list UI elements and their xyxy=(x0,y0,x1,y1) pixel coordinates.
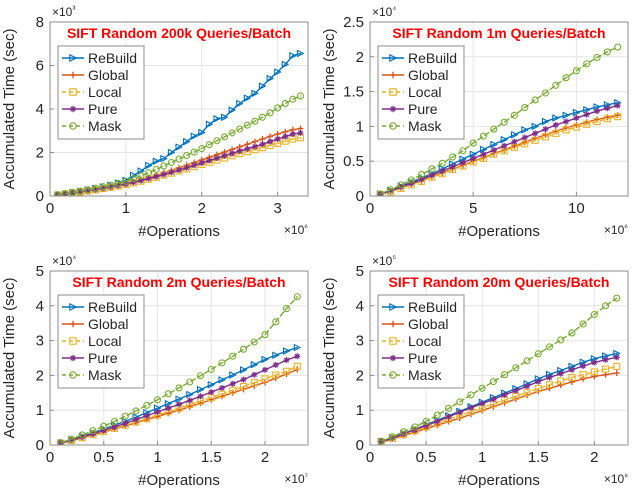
data-point-marker xyxy=(237,148,243,154)
y-tick-label: 2 xyxy=(36,145,44,162)
y-tick-label: 3 xyxy=(356,333,364,350)
legend[interactable]: ReBuildGlobalLocalPureMask xyxy=(58,46,144,139)
x-tick-label: 2 xyxy=(590,449,598,466)
y-tick-label: 4 xyxy=(36,298,44,315)
data-point-marker xyxy=(580,363,586,369)
data-point-marker xyxy=(144,413,150,419)
data-point-marker xyxy=(604,105,610,111)
data-point-marker xyxy=(511,139,517,145)
data-point-marker xyxy=(282,101,288,107)
subplot-sift-random-200k: 012302468×10³×10⁶#OperationsAccumulated … xyxy=(0,0,320,249)
legend-label: Mask xyxy=(408,367,442,383)
subplot-title: SIFT Random 1m Queries/Batch xyxy=(392,25,605,41)
chart-sift-random-200k: 012302468×10³×10⁶#OperationsAccumulated … xyxy=(0,0,320,249)
data-point-marker xyxy=(524,358,530,364)
data-point-marker xyxy=(206,158,212,164)
data-point-marker xyxy=(70,355,76,361)
data-point-marker xyxy=(176,167,182,173)
data-point-marker xyxy=(259,141,265,147)
data-point-marker xyxy=(290,131,296,137)
x-tick-label: 3 xyxy=(273,200,281,217)
data-point-marker xyxy=(390,106,396,112)
chart-sift-random-20m: 00.511.52012345×10⁵×10⁸#OperationsAccumu… xyxy=(320,249,640,498)
x-tick-label: 2 xyxy=(198,200,206,217)
data-point-marker xyxy=(297,130,303,136)
data-point-marker xyxy=(191,162,197,168)
data-point-marker xyxy=(439,168,445,174)
data-point-marker xyxy=(434,418,440,424)
legend-label: Local xyxy=(88,333,121,349)
data-point-marker xyxy=(591,373,597,379)
x-tick-label: 1.5 xyxy=(201,449,222,466)
data-point-marker xyxy=(198,393,204,399)
data-point-marker xyxy=(267,133,273,139)
x-tick-label: 5 xyxy=(469,200,477,217)
x-tick-label: 0.5 xyxy=(416,449,437,466)
data-point-marker xyxy=(434,412,440,418)
data-point-marker xyxy=(70,106,76,112)
legend-label: Mask xyxy=(88,118,122,134)
y-tick-label: 1 xyxy=(36,402,44,419)
data-point-marker xyxy=(535,379,541,385)
data-point-marker xyxy=(153,174,159,180)
data-point-marker xyxy=(481,133,487,139)
legend-label: Global xyxy=(88,67,128,83)
y-tick-label: 6 xyxy=(36,58,44,75)
data-point-marker xyxy=(457,409,463,415)
data-point-marker xyxy=(187,397,193,403)
data-point-marker xyxy=(614,354,620,360)
y-tick-label: 2 xyxy=(356,49,364,66)
data-point-marker xyxy=(146,176,152,182)
legend-label: Global xyxy=(88,316,128,332)
legend[interactable]: ReBuildGlobalLocalPureMask xyxy=(378,295,464,388)
data-point-marker xyxy=(569,379,575,385)
y-tick-label: 5 xyxy=(36,263,44,280)
data-point-marker xyxy=(558,337,564,343)
data-point-marker xyxy=(262,367,268,373)
data-point-marker xyxy=(558,371,564,377)
data-point-marker xyxy=(580,376,586,382)
legend-label: Pure xyxy=(88,350,118,366)
y-tick-label: 3 xyxy=(36,333,44,350)
x-tick-label: 0.5 xyxy=(93,449,114,466)
x-tick-label: 10 xyxy=(568,200,585,217)
y-axis-exponent: ×10³ xyxy=(52,4,75,19)
y-axis-exponent: ×10⁴ xyxy=(52,253,76,268)
data-point-marker xyxy=(542,126,548,132)
x-axis-label: #Operations xyxy=(458,472,540,489)
data-point-marker xyxy=(122,420,128,426)
data-point-marker xyxy=(553,82,559,88)
legend-label: Local xyxy=(408,333,441,349)
x-tick-label: 2 xyxy=(261,449,269,466)
x-axis-exponent: ×10⁶ xyxy=(284,222,308,237)
data-point-marker xyxy=(273,362,279,368)
x-tick-label: 1.5 xyxy=(528,449,549,466)
x-tick-label: 1 xyxy=(153,449,161,466)
data-point-marker xyxy=(490,379,496,385)
y-tick-label: 2 xyxy=(36,367,44,384)
subplot-title: SIFT Random 200k Queries/Batch xyxy=(67,25,291,41)
x-tick-label: 1 xyxy=(122,200,130,217)
y-tick-label: 1.5 xyxy=(343,84,364,101)
legend-label: Local xyxy=(408,84,441,100)
data-point-marker xyxy=(165,391,171,397)
data-point-marker xyxy=(214,155,220,161)
legend-label: ReBuild xyxy=(408,299,457,315)
data-point-marker xyxy=(153,166,159,172)
data-point-marker xyxy=(230,381,236,387)
subplot-title: SIFT Random 2m Queries/Batch xyxy=(72,274,285,290)
data-point-marker xyxy=(208,389,214,395)
data-point-marker xyxy=(603,357,609,363)
legend-label: ReBuild xyxy=(88,299,137,315)
data-point-marker xyxy=(168,160,174,166)
data-point-marker xyxy=(133,417,139,423)
data-point-marker xyxy=(490,396,496,402)
x-tick-label: 0 xyxy=(366,200,374,217)
data-point-marker xyxy=(144,402,150,408)
data-point-marker xyxy=(460,160,466,166)
data-point-marker xyxy=(522,135,528,141)
data-point-marker xyxy=(553,122,559,128)
y-tick-label: 1 xyxy=(356,118,364,135)
chart-sift-random-2m: 00.511.52012345×10⁴×10⁷#OperationsAccumu… xyxy=(0,249,320,498)
y-axis-label: Accumulated Time (sec) xyxy=(1,29,18,190)
data-point-marker xyxy=(168,169,174,175)
legend-label: Pure xyxy=(408,350,438,366)
legend-label: ReBuild xyxy=(88,50,137,66)
data-point-marker xyxy=(244,146,250,152)
y-tick-label: 5 xyxy=(356,263,364,280)
data-point-marker xyxy=(161,163,167,169)
y-tick-label: 8 xyxy=(36,14,44,31)
data-point-marker xyxy=(184,165,190,171)
data-point-marker xyxy=(176,156,182,162)
data-point-marker xyxy=(275,136,281,142)
legend[interactable]: ReBuildGlobalLocalPureMask xyxy=(378,46,464,139)
data-point-marker xyxy=(390,355,396,361)
data-point-marker xyxy=(267,139,273,145)
data-point-marker xyxy=(429,172,435,178)
legend-label: Mask xyxy=(88,367,122,383)
data-point-marker xyxy=(187,379,193,385)
y-tick-label: 2 xyxy=(356,367,364,384)
chart-sift-random-1m: 051000.511.522.5×10⁴×10⁶#OperationsAccum… xyxy=(320,0,640,249)
data-point-marker xyxy=(569,367,575,373)
data-point-marker xyxy=(229,150,235,156)
y-tick-label: 0 xyxy=(36,188,44,205)
legend-label: Global xyxy=(408,316,448,332)
data-point-marker xyxy=(222,153,228,159)
y-tick-label: 0.5 xyxy=(343,153,364,170)
data-point-marker xyxy=(573,115,579,121)
legend-label: Pure xyxy=(408,101,438,117)
data-point-marker xyxy=(479,401,485,407)
y-tick-label: 2.5 xyxy=(343,14,364,31)
data-point-marker xyxy=(513,388,519,394)
data-point-marker xyxy=(563,119,569,125)
data-point-marker xyxy=(282,134,288,140)
data-point-marker xyxy=(284,357,290,363)
data-point-marker xyxy=(219,385,225,391)
data-point-marker xyxy=(446,414,452,420)
legend-label: Pure xyxy=(88,101,118,117)
figure-canvas: 012302468×10³×10⁶#OperationsAccumulated … xyxy=(0,0,640,498)
data-point-marker xyxy=(259,136,265,142)
y-axis-exponent: ×10⁵ xyxy=(372,253,396,268)
y-tick-label: 4 xyxy=(356,298,364,315)
data-point-marker xyxy=(615,103,621,109)
data-point-marker xyxy=(122,413,128,419)
y-tick-label: 0 xyxy=(36,437,44,454)
data-point-marker xyxy=(546,374,552,380)
x-axis-label: #Operations xyxy=(458,223,540,240)
data-point-marker xyxy=(468,405,474,411)
y-tick-label: 0 xyxy=(356,437,364,454)
data-point-marker xyxy=(532,130,538,136)
y-tick-label: 0 xyxy=(356,188,364,205)
legend-label: Mask xyxy=(408,118,442,134)
y-axis-label: Accumulated Time (sec) xyxy=(321,278,338,439)
subplot-sift-random-1m: 051000.511.522.5×10⁴×10⁶#OperationsAccum… xyxy=(320,0,640,249)
data-point-marker xyxy=(615,44,621,50)
data-point-marker xyxy=(481,151,487,157)
y-axis-label: Accumulated Time (sec) xyxy=(1,278,18,439)
legend[interactable]: ReBuildGlobalLocalPureMask xyxy=(58,295,144,388)
legend-label: Local xyxy=(88,84,121,100)
x-tick-label: 0 xyxy=(46,449,54,466)
data-point-marker xyxy=(199,160,205,166)
y-tick-label: 1 xyxy=(356,402,364,419)
x-axis-exponent: ×10⁷ xyxy=(284,471,308,486)
legend-label: ReBuild xyxy=(408,50,457,66)
data-point-marker xyxy=(252,144,258,150)
data-point-marker xyxy=(501,143,507,149)
x-axis-label: #Operations xyxy=(138,472,220,489)
data-point-marker xyxy=(450,164,456,170)
x-axis-exponent: ×10⁸ xyxy=(604,471,628,486)
data-point-marker xyxy=(502,392,508,398)
series-pure xyxy=(55,130,304,198)
data-point-marker xyxy=(155,409,161,415)
data-point-marker xyxy=(594,108,600,114)
data-point-marker xyxy=(165,405,171,411)
data-point-marker xyxy=(584,112,590,118)
x-axis-label: #Operations xyxy=(138,223,220,240)
y-tick-label: 4 xyxy=(36,101,44,118)
x-tick-label: 0 xyxy=(46,200,54,217)
data-point-marker xyxy=(251,372,257,378)
data-point-marker xyxy=(491,147,497,153)
data-point-marker xyxy=(524,383,530,389)
y-axis-exponent: ×10⁴ xyxy=(372,4,396,19)
data-point-marker xyxy=(176,401,182,407)
data-point-marker xyxy=(558,382,564,388)
subplot-sift-random-2m: 00.511.52012345×10⁴×10⁷#OperationsAccumu… xyxy=(0,249,320,498)
data-point-marker xyxy=(161,171,167,177)
data-point-marker xyxy=(241,377,247,383)
subplot-sift-random-20m: 00.511.52012345×10⁵×10⁸#OperationsAccumu… xyxy=(320,249,640,498)
data-point-marker xyxy=(470,155,476,161)
x-tick-label: 1 xyxy=(478,449,486,466)
x-tick-label: 0 xyxy=(366,449,374,466)
y-axis-label: Accumulated Time (sec) xyxy=(321,29,338,190)
legend-label: Global xyxy=(408,67,448,83)
data-point-marker xyxy=(294,353,300,359)
x-axis-exponent: ×10⁶ xyxy=(604,222,628,237)
data-point-marker xyxy=(591,360,597,366)
subplot-title: SIFT Random 20m Queries/Batch xyxy=(389,274,610,290)
